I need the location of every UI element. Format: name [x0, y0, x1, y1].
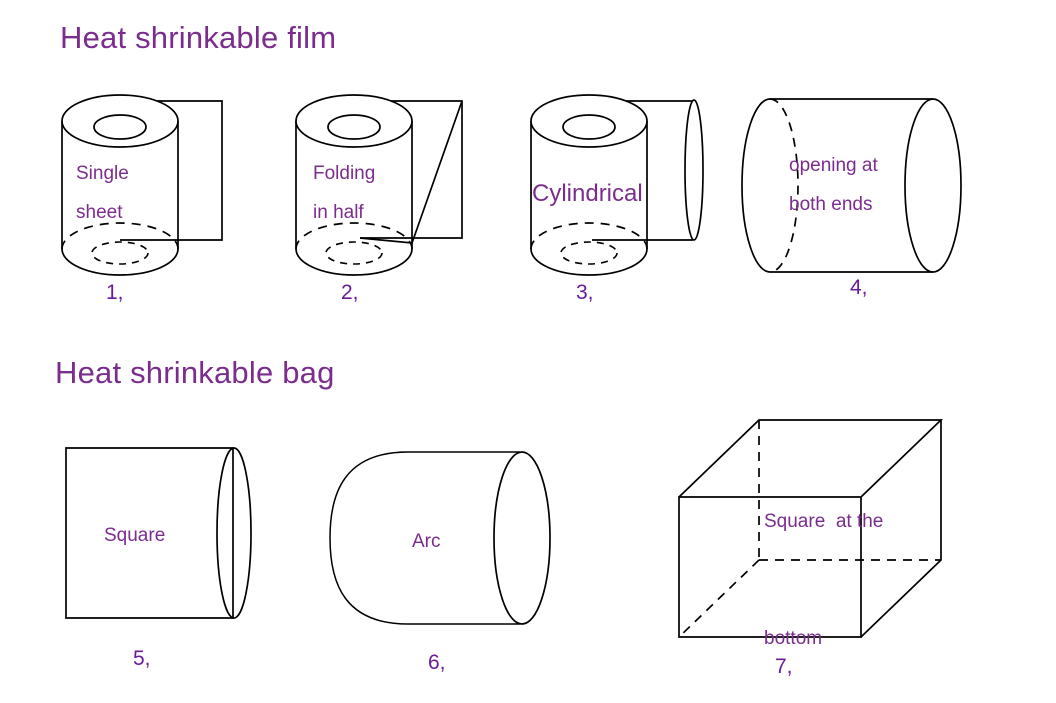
- figure-2-caption-line1: Folding: [313, 155, 375, 194]
- figure-4-caption-line1: opening at: [789, 147, 878, 186]
- figure-5-caption-line1: Square: [104, 519, 165, 552]
- figure-5-caption: Square: [104, 519, 165, 552]
- figure-1-number: 1,: [106, 281, 124, 305]
- figure-4-number: 4,: [850, 276, 868, 300]
- figure-6-caption: Arc: [412, 525, 441, 558]
- figure-3-caption: Cylindrical: [532, 173, 643, 215]
- figure-1-caption-line2: sheet: [76, 194, 129, 233]
- figure-1-caption: Single sheet: [76, 155, 129, 233]
- figure-4-caption-line2: both ends: [789, 186, 878, 225]
- figure-5-number: 5,: [133, 647, 151, 671]
- figure-3-number: 3,: [576, 281, 594, 305]
- section-title-film: Heat shrinkable film: [60, 20, 336, 56]
- figure-3-caption-line1: Cylindrical: [532, 173, 643, 215]
- figure-6-number: 6,: [428, 651, 446, 675]
- figure-4-caption: opening at both ends: [789, 147, 878, 225]
- figure-7-caption-line1: Square at the: [764, 503, 883, 542]
- figure-2-caption-line2: in half: [313, 194, 375, 233]
- figure-7-caption-line2: bottom: [764, 620, 883, 659]
- figure-2-caption: Folding in half: [313, 155, 375, 233]
- figure-6-caption-line1: Arc: [412, 525, 441, 558]
- figure-7-number: 7,: [775, 655, 793, 679]
- figure-1-caption-line1: Single: [76, 155, 129, 194]
- fig1-flat-sheet: [120, 101, 222, 240]
- fig3-flat-tube: [592, 100, 703, 240]
- figure-2-number: 2,: [341, 281, 359, 305]
- section-title-bag: Heat shrinkable bag: [55, 355, 335, 391]
- figure-1-roll-single-sheet: [0, 0, 1056, 703]
